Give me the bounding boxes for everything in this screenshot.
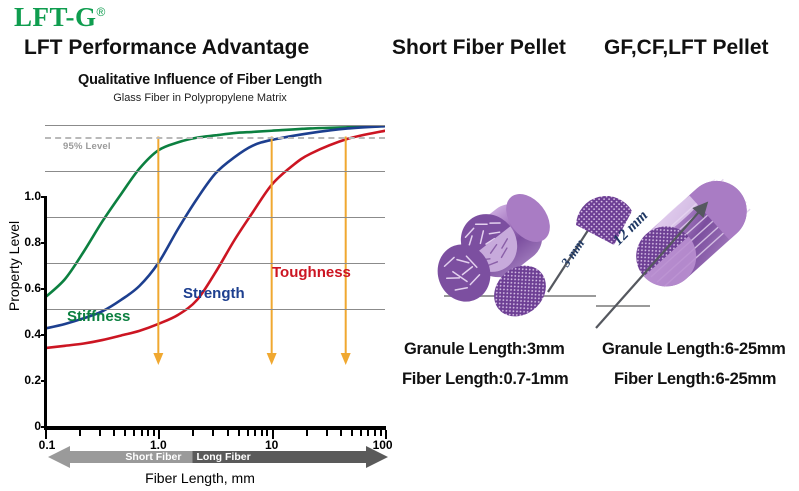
pellet-illustrations: 3 mm 12 mm (400, 100, 799, 340)
fiber-range-short-label: Short Fiber (118, 449, 188, 465)
chart-x-tick-mark (374, 430, 376, 436)
chart-x-tick-mark (306, 430, 308, 436)
chart-x-tick-mark (133, 430, 135, 436)
chart-x-tick-mark (124, 430, 126, 436)
chart-x-tick-mark (367, 430, 369, 436)
poster-root: LFT-G® LFT Performance Advantage Short F… (0, 0, 799, 419)
brand-logo-text: LFT-G (14, 2, 97, 32)
chart-x-ticks: 0.11.010100 (0, 72, 400, 419)
chart-x-axis (44, 426, 386, 430)
chart-x-tick-mark (360, 430, 362, 436)
chart-x-tick-mark (113, 430, 115, 436)
chart-x-tick-mark (141, 430, 143, 436)
chart-x-tick-mark (261, 430, 263, 436)
brand-logo: LFT-G® (14, 2, 106, 33)
fiber-range-long-label: Long Fiber (196, 449, 268, 465)
chart-y-tick-label: 0 (3, 419, 41, 433)
short-pellet-granule-length: Granule Length:3mm (404, 340, 565, 359)
chart-x-axis-label: Fiber Length, mm (0, 470, 400, 486)
fiber-range-bar: Short Fiber Long Fiber (0, 444, 400, 470)
chart-x-tick-mark (380, 430, 382, 436)
chart-x-tick-mark (147, 430, 149, 436)
chart-x-tick-mark (254, 430, 256, 436)
heading-lft-performance-advantage: LFT Performance Advantage (24, 36, 309, 60)
chart-x-tick-mark (212, 430, 214, 436)
chart-x-tick-mark (153, 430, 155, 436)
fiber-length-chart: Qualitative Influence of Fiber Length Gl… (0, 72, 400, 419)
chart-x-tick-mark (247, 430, 249, 436)
lft-pellet-fiber-length: Fiber Length:6-25mm (614, 370, 776, 389)
lft-pellet-granule-length: Granule Length:6-25mm (602, 340, 785, 359)
chart-x-tick-mark (79, 430, 81, 436)
chart-x-tick-mark (340, 430, 342, 436)
heading-short-fiber-pellet: Short Fiber Pellet (392, 36, 566, 60)
chart-x-tick-mark (326, 430, 328, 436)
chart-x-tick-mark (192, 430, 194, 436)
chart-x-tick-mark (99, 430, 101, 436)
short-pellet-fiber-length: Fiber Length:0.7-1mm (402, 370, 568, 389)
chart-y-tick-mark (41, 426, 47, 428)
pellet-artwork (400, 100, 799, 340)
chart-x-tick-mark (266, 430, 268, 436)
heading-gf-cf-lft-pellet: GF,CF,LFT Pellet (604, 36, 769, 60)
chart-x-tick-mark (227, 430, 229, 436)
registered-trademark-icon: ® (97, 5, 106, 19)
chart-x-tick-mark (351, 430, 353, 436)
chart-x-tick-mark (238, 430, 240, 436)
